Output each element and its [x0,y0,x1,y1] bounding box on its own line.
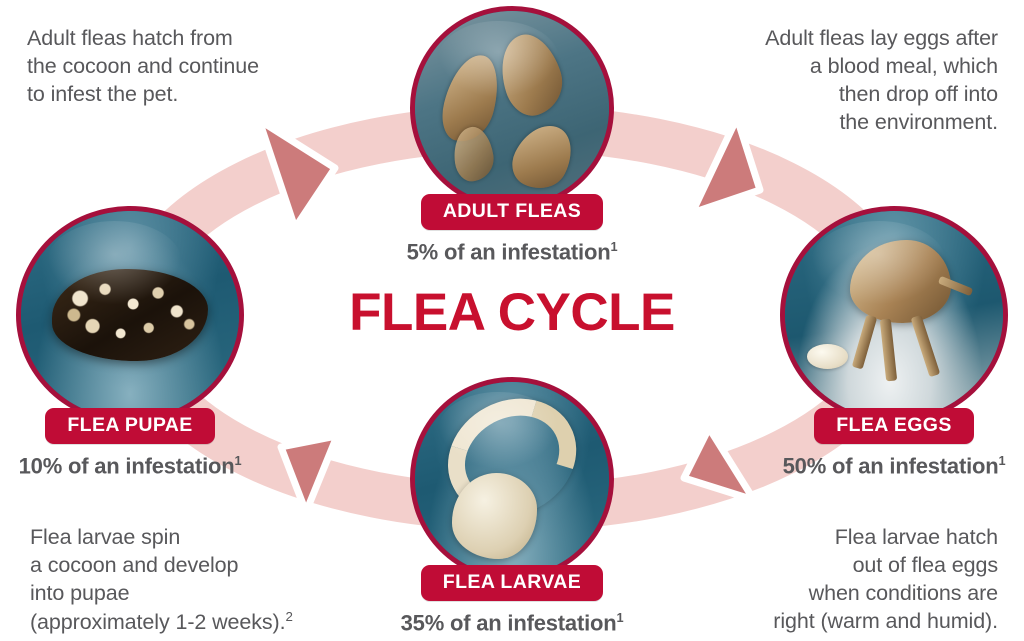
stage-caption-adult-fleas-text: 5% of an infestation [407,239,611,264]
description-adult-hatch: Adult fleas hatch from the cocoon and co… [27,25,327,109]
stage-label-flea-eggs[interactable]: FLEA EGGS [814,408,974,444]
description-larvae-hatch: Flea larvae hatch out of flea eggs when … [698,524,998,636]
footnote-marker-1: 1 [610,239,617,254]
flea-cycle-infographic: Adult fleas hatch from the cocoon and co… [0,0,1024,641]
flea-egg [807,344,848,369]
pupae-cocoon-debris [52,269,209,361]
stage-label-adult-fleas[interactable]: ADULT FLEAS [421,194,603,230]
description-eggs-laid: Adult fleas lay eggs after a blood meal,… [693,25,998,137]
stage-caption-flea-eggs: 50% of an infestation1 [756,453,1024,479]
footnote-marker-1: 1 [616,610,623,625]
stage-caption-flea-pupae: 10% of an infestation1 [0,453,268,479]
larva-head [452,473,537,558]
stage-node-flea-pupae[interactable]: FLEA PUPAE 10% of an infestation1 [0,206,268,479]
flea-larvae-photo [410,377,614,581]
stage-label-flea-larvae[interactable]: FLEA LARVAE [421,565,603,601]
stage-node-adult-fleas[interactable]: ADULT FLEAS 5% of an infestation1 [392,6,632,265]
flea-pupae-photo [16,206,244,424]
stage-caption-flea-larvae-text: 35% of an infestation [401,610,617,635]
stage-caption-flea-pupae-text: 10% of an infestation [19,453,235,478]
stage-caption-adult-fleas: 5% of an infestation1 [392,239,632,265]
adult-fleas-photo [410,6,614,210]
footnote-marker-1: 1 [998,453,1005,468]
footnote-marker-1: 1 [234,453,241,468]
stage-caption-flea-larvae: 35% of an infestation1 [392,610,632,636]
stage-node-flea-larvae[interactable]: FLEA LARVAE 35% of an infestation1 [392,377,632,636]
flea-eggs-photo [780,206,1008,424]
description-larvae-cocoon-text: Flea larvae spin a cocoon and develop in… [30,525,286,634]
footnote-marker-2: 2 [286,609,293,624]
stage-label-flea-pupae[interactable]: FLEA PUPAE [45,408,214,444]
stage-node-flea-eggs[interactable]: FLEA EGGS 50% of an infestation1 [756,206,1024,479]
description-larvae-cocoon: Flea larvae spin a cocoon and develop in… [30,524,340,637]
stage-caption-flea-eggs-text: 50% of an infestation [783,453,999,478]
